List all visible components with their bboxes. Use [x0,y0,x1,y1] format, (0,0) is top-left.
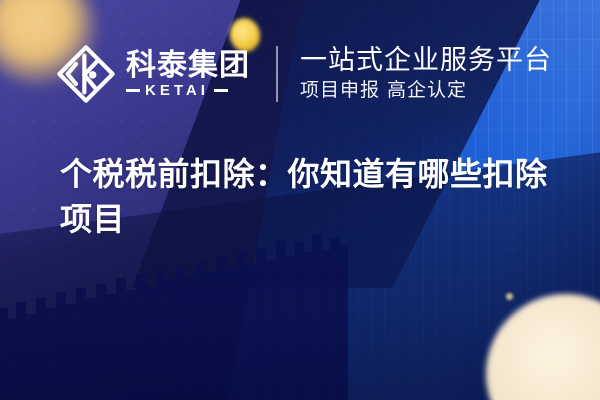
ketai-diamond-k-logo-icon [56,44,116,104]
wordmark-rule-right [214,89,228,92]
tagline-block: 一站式企业服务平台 项目申报 高企认定 [300,46,552,102]
wordmark-rule-left [126,89,140,92]
tagline-sub: 项目申报 高企认定 [300,80,552,102]
brand-divider [276,46,278,102]
city-skyline-silhouette [0,216,348,400]
brand-header: 科泰集团 KETAI 一站式企业服务平台 项目申报 高企认定 [56,44,552,104]
brand-name-en: KETAI [145,83,209,98]
brand-name-cn: 科泰集团 [126,50,250,82]
small-gold-dot [505,292,514,301]
brand-wordmark: 科泰集团 KETAI [126,50,250,99]
page-title: 个税税前扣除：你知道有哪些扣除项目 [60,152,570,243]
brand-name-en-row: KETAI [126,83,250,98]
tagline-main: 一站式企业服务平台 [300,46,552,76]
promo-banner: 科泰集团 KETAI 一站式企业服务平台 项目申报 高企认定 个税税前扣除：你知… [0,0,600,400]
